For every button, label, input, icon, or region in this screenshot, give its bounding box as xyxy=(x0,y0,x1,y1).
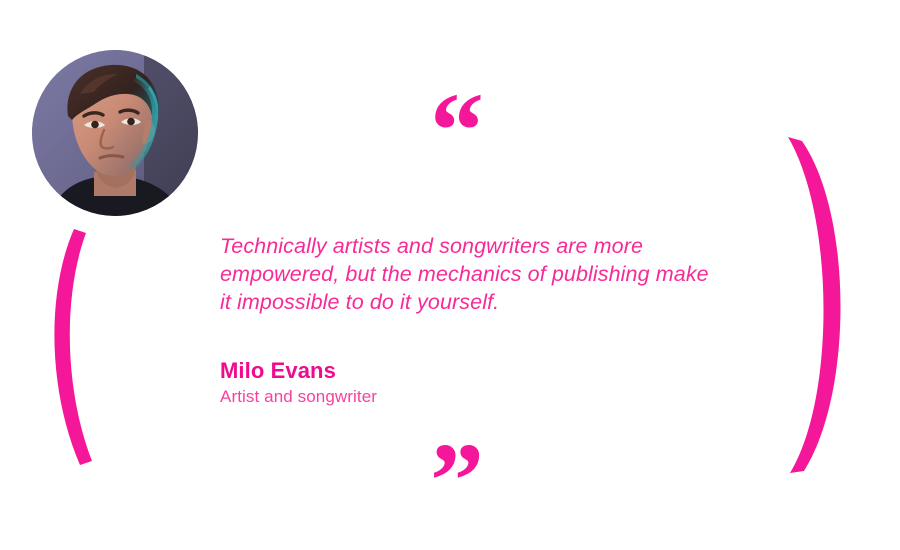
left-bracket-arc xyxy=(40,215,140,480)
close-quote-icon: ” xyxy=(430,428,484,536)
quote-text: Technically artists and songwriters are … xyxy=(220,232,720,316)
avatar-portrait-illustration xyxy=(32,50,198,216)
attribution: Milo Evans Artist and songwriter xyxy=(220,358,720,408)
avatar xyxy=(32,50,198,216)
author-name: Milo Evans xyxy=(220,358,720,384)
author-role: Artist and songwriter xyxy=(220,386,720,408)
right-bracket-arc xyxy=(770,125,870,485)
quote-body: Technically artists and songwriters are … xyxy=(220,232,720,408)
left-arc-shape xyxy=(54,229,92,465)
open-quote-icon: “ xyxy=(430,78,484,186)
quote-card: “ ” Technically artists and songwriters … xyxy=(0,0,900,550)
right-arc-shape xyxy=(788,137,841,473)
